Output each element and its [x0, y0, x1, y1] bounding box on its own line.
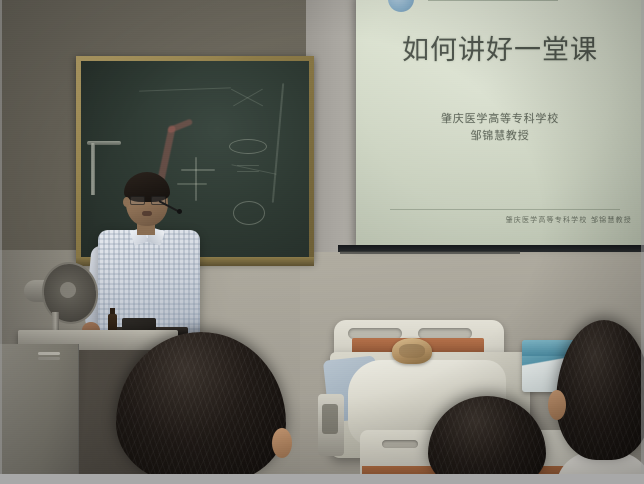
blackboard-pole [91, 143, 95, 195]
headset-mic-tip [177, 209, 182, 214]
slide-logo-icon [388, 0, 414, 12]
chalk-ellipse [233, 201, 265, 225]
screen-lip [340, 251, 520, 254]
chalk-mark [177, 183, 207, 185]
audience-ear-center [272, 428, 292, 458]
classroom-photo: 如何讲好一堂课 肇庆医学高等专科学校 邹锦慧教授 肇庆医学高等专科学校 邹锦慧教… [0, 0, 644, 484]
glasses-lens-left [130, 196, 145, 205]
presentation-slide: 如何讲好一堂课 肇庆医学高等专科学校 邹锦慧教授 肇庆医学高等专科学校 邹锦慧教… [356, 0, 644, 248]
fan-hub [60, 282, 76, 298]
chalk-mark [272, 83, 284, 203]
presenter-ear [123, 197, 130, 207]
chalk-mark [237, 171, 259, 172]
slide-footer-text: 肇庆医学高等专科学校 邹锦慧教授 [506, 215, 632, 225]
chalk-mark-red [167, 118, 193, 133]
cabinet [0, 344, 79, 484]
photo-border-bottom [0, 474, 644, 484]
slide-title: 如何讲好一堂课 [356, 34, 644, 68]
slide-subtitle: 肇庆医学高等专科学校 邹锦慧教授 [356, 110, 644, 144]
cabinet-handle-2 [38, 357, 60, 360]
blackboard-surface [81, 61, 309, 257]
chalk-mark [181, 169, 215, 171]
slide-header-rule [428, 0, 558, 1]
chalk-mark-red [157, 125, 176, 183]
bed-rail-slot [322, 404, 338, 434]
chalk-ellipse [229, 139, 267, 154]
projection-screen: 如何讲好一堂课 肇庆医学高等专科学校 邹锦慧教授 肇庆医学高等专科学校 邹锦慧教… [356, 0, 644, 248]
slide-subtitle-line1: 肇庆医学高等专科学校 [356, 110, 644, 127]
chalk-mark [195, 157, 197, 201]
slide-footer-rule [390, 209, 620, 210]
bed-footboard-slot [382, 440, 418, 448]
training-manikin-face [399, 344, 425, 358]
chalk-mark [237, 165, 259, 166]
presenter-mouth [142, 211, 152, 216]
photo-border-left [0, 0, 2, 484]
chalk-mark [139, 87, 231, 91]
cabinet-handle [38, 352, 60, 355]
slide-subtitle-line2: 邹锦慧教授 [356, 127, 644, 144]
audience-ear-right [548, 390, 566, 420]
